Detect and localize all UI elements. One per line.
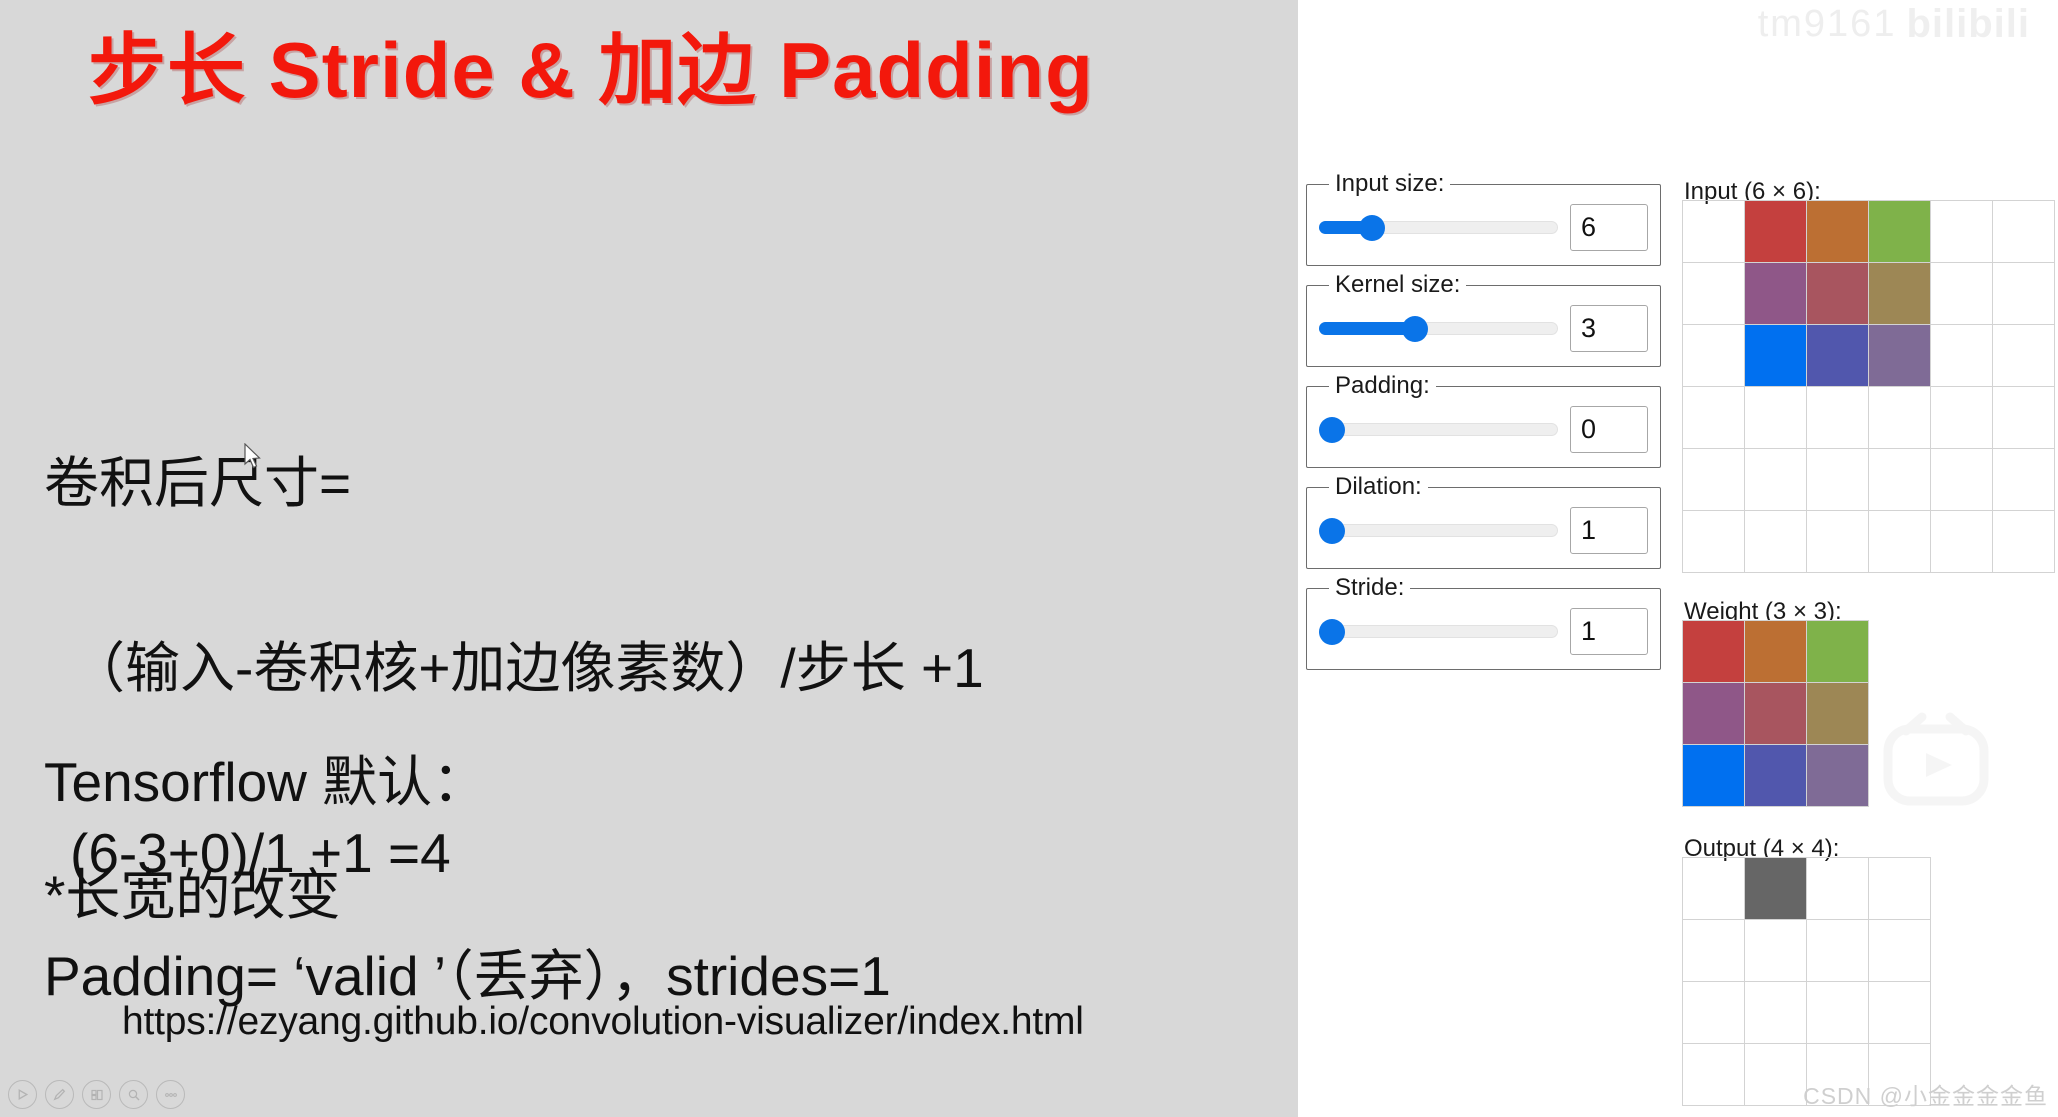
control-row-dilation: 1 xyxy=(1319,507,1648,554)
screenshot-root: 步长 Stride & 加边 Padding 卷积后尺寸= （输入-卷积核+加边… xyxy=(0,0,2058,1117)
grid-cell[interactable] xyxy=(1745,683,1807,745)
bilibili-tv-watermark xyxy=(1876,705,1996,817)
grid-cell[interactable] xyxy=(1745,201,1807,263)
magnifier-icon[interactable] xyxy=(119,1080,148,1109)
grid-cell[interactable] xyxy=(1869,387,1931,449)
grid-cell[interactable] xyxy=(1931,325,1993,387)
output-grid[interactable] xyxy=(1682,857,1931,1106)
slider-track-padding[interactable] xyxy=(1319,423,1558,436)
slider-track-stride[interactable] xyxy=(1319,625,1558,638)
bilibili-watermark: tm9161 bilibili xyxy=(1758,2,2030,47)
value-input-dilation[interactable]: 1 xyxy=(1570,507,1648,554)
grid-cell[interactable] xyxy=(1869,982,1931,1044)
grid-cell[interactable] xyxy=(1993,201,2055,263)
grid-cell[interactable] xyxy=(1745,920,1807,982)
presentation-slide: 步长 Stride & 加边 Padding 卷积后尺寸= （输入-卷积核+加边… xyxy=(0,0,1298,1117)
grid-cell[interactable] xyxy=(1869,511,1931,573)
grid-cell[interactable] xyxy=(1931,387,1993,449)
slider-thumb-padding[interactable] xyxy=(1319,417,1345,443)
control-padding: Padding:0 xyxy=(1306,372,1661,468)
grid-cell[interactable] xyxy=(1807,621,1869,683)
grid-cell[interactable] xyxy=(1745,511,1807,573)
grid-cell[interactable] xyxy=(1869,325,1931,387)
grid-cell[interactable] xyxy=(1807,387,1869,449)
control-row-kernel-size: 3 xyxy=(1319,305,1648,352)
grid-cell[interactable] xyxy=(1683,387,1745,449)
grid-cell[interactable] xyxy=(1993,387,2055,449)
grid-cell[interactable] xyxy=(1931,263,1993,325)
grid-cell[interactable] xyxy=(1869,920,1931,982)
grid-cell[interactable] xyxy=(1683,1044,1745,1106)
control-input-size: Input size:6 xyxy=(1306,170,1661,266)
mouse-cursor xyxy=(243,443,263,471)
grid-cell[interactable] xyxy=(1745,449,1807,511)
grid-cell[interactable] xyxy=(1807,263,1869,325)
grid-cell[interactable] xyxy=(1745,387,1807,449)
grid-cell[interactable] xyxy=(1807,920,1869,982)
reference-url: https://ezyang.github.io/convolution-vis… xyxy=(122,1000,1084,1044)
control-row-stride: 1 xyxy=(1319,608,1648,655)
grid-cell[interactable] xyxy=(1993,511,2055,573)
presenter-toolbar[interactable] xyxy=(8,1080,185,1109)
value-input-padding[interactable]: 0 xyxy=(1570,406,1648,453)
page-title: 步长 Stride & 加边 Padding xyxy=(88,8,1094,120)
slider-input-size[interactable] xyxy=(1319,215,1558,241)
grid-cell[interactable] xyxy=(1993,263,2055,325)
grid-cell[interactable] xyxy=(1807,745,1869,807)
grid-cell[interactable] xyxy=(1807,201,1869,263)
slide-grid-icon[interactable] xyxy=(82,1080,111,1109)
grid-cell[interactable] xyxy=(1683,325,1745,387)
grid-cell[interactable] xyxy=(1683,201,1745,263)
grid-cell[interactable] xyxy=(1745,263,1807,325)
grid-cell[interactable] xyxy=(1683,982,1745,1044)
slider-stride[interactable] xyxy=(1319,619,1558,645)
more-icon[interactable] xyxy=(156,1080,185,1109)
grid-cell[interactable] xyxy=(1807,449,1869,511)
bilibili-username: tm9161 xyxy=(1758,3,1897,46)
grid-cell[interactable] xyxy=(1683,449,1745,511)
grid-cell[interactable] xyxy=(1931,449,1993,511)
grid-cell[interactable] xyxy=(1683,621,1745,683)
grid-cell[interactable] xyxy=(1683,511,1745,573)
value-input-input-size[interactable]: 6 xyxy=(1570,204,1648,251)
grid-cell[interactable] xyxy=(1807,982,1869,1044)
grid-cell[interactable] xyxy=(1745,858,1807,920)
grid-cell[interactable] xyxy=(1683,263,1745,325)
slider-thumb-kernel-size[interactable] xyxy=(1402,316,1428,342)
grid-cell[interactable] xyxy=(1745,745,1807,807)
grid-cell[interactable] xyxy=(1993,325,2055,387)
note-text: *长宽的改变 xyxy=(44,850,340,930)
control-legend-stride: Stride: xyxy=(1329,574,1410,602)
grid-cell[interactable] xyxy=(1807,511,1869,573)
control-row-padding: 0 xyxy=(1319,406,1648,453)
slider-dilation[interactable] xyxy=(1319,518,1558,544)
grid-cell[interactable] xyxy=(1745,982,1807,1044)
grid-cell[interactable] xyxy=(1683,683,1745,745)
slider-thumb-dilation[interactable] xyxy=(1319,518,1345,544)
slider-thumb-stride[interactable] xyxy=(1319,619,1345,645)
bilibili-logo: bilibili xyxy=(1906,2,2030,47)
input-grid[interactable] xyxy=(1682,200,2055,573)
control-legend-input-size: Input size: xyxy=(1329,170,1450,198)
control-legend-dilation: Dilation: xyxy=(1329,473,1428,501)
grid-cell[interactable] xyxy=(1683,920,1745,982)
grid-cell[interactable] xyxy=(1869,449,1931,511)
grid-cell[interactable] xyxy=(1807,858,1869,920)
control-legend-kernel-size: Kernel size: xyxy=(1329,271,1466,299)
grid-cell[interactable] xyxy=(1807,683,1869,745)
grid-cell[interactable] xyxy=(1869,263,1931,325)
csdn-watermark: CSDN @小金金金金鱼 xyxy=(1803,1077,2048,1111)
grid-cell[interactable] xyxy=(1807,325,1869,387)
value-input-kernel-size[interactable]: 3 xyxy=(1570,305,1648,352)
control-legend-padding: Padding: xyxy=(1329,372,1436,400)
grid-cell[interactable] xyxy=(1869,858,1931,920)
tensorflow-line-1: Tensorflow 默认： xyxy=(44,750,891,815)
grid-cell[interactable] xyxy=(1683,745,1745,807)
grid-cell[interactable] xyxy=(1745,1044,1807,1106)
slider-thumb-input-size[interactable] xyxy=(1359,215,1385,241)
slider-track-dilation[interactable] xyxy=(1319,524,1558,537)
grid-cell[interactable] xyxy=(1931,201,1993,263)
formula-line-1: 卷积后尺寸= xyxy=(44,453,984,515)
grid-cell[interactable] xyxy=(1993,449,2055,511)
slider-fill-kernel-size xyxy=(1319,322,1415,335)
slider-padding[interactable] xyxy=(1319,417,1558,443)
grid-cell[interactable] xyxy=(1745,325,1807,387)
value-input-stride[interactable]: 1 xyxy=(1570,608,1648,655)
slider-kernel-size[interactable] xyxy=(1319,316,1558,342)
control-dilation: Dilation:1 xyxy=(1306,473,1661,569)
pen-icon[interactable] xyxy=(45,1080,74,1109)
grid-cell[interactable] xyxy=(1745,621,1807,683)
convolution-visualizer-panel: Input size:6Kernel size:3Padding:0Dilati… xyxy=(1298,0,2058,1117)
control-row-input-size: 6 xyxy=(1319,204,1648,251)
grid-cell[interactable] xyxy=(1931,511,1993,573)
play-icon[interactable] xyxy=(8,1080,37,1109)
grid-cell[interactable] xyxy=(1869,201,1931,263)
controls-column: Input size:6Kernel size:3Padding:0Dilati… xyxy=(1306,170,1661,675)
grid-cell[interactable] xyxy=(1683,858,1745,920)
control-stride: Stride:1 xyxy=(1306,574,1661,670)
weight-grid[interactable] xyxy=(1682,620,1869,807)
control-kernel-size: Kernel size:3 xyxy=(1306,271,1661,367)
